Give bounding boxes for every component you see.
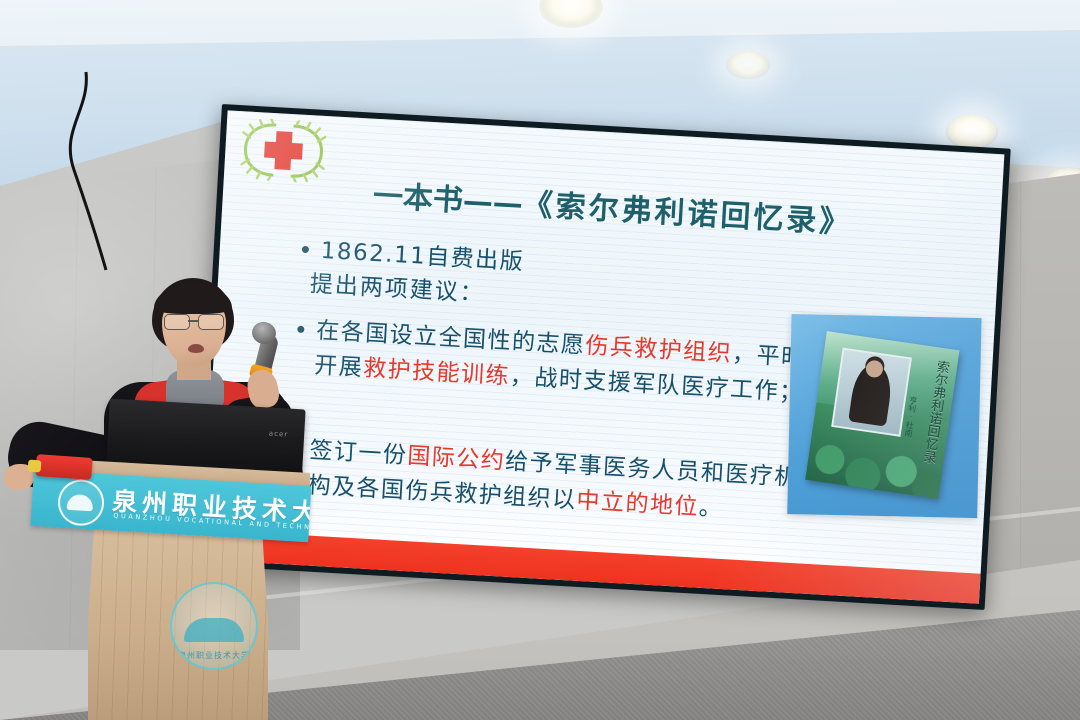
bullet-text: 签订一份国际公约给予军事医务人员和医疗机构及各国伤兵救护组织以中立的地位。 [306, 434, 810, 532]
university-seal-icon [57, 478, 106, 527]
university-emblem-icon: 泉州职业技术大学 [170, 582, 258, 670]
emblem-text: 泉州职业技术大学 [172, 650, 256, 661]
emblem-mountain [184, 618, 244, 642]
speaker-mouth [188, 344, 204, 353]
ceiling-downlight [726, 51, 770, 79]
glasses-lens-right [198, 314, 224, 330]
presenter-clicker[interactable] [35, 454, 92, 480]
glasses-icon [164, 314, 226, 329]
book-cover-portrait [831, 348, 912, 437]
microphone-cable [56, 60, 256, 290]
glasses-lens-left [164, 314, 190, 330]
book-cover-image: 索尔弗利诺回忆录 亨利·杜南 [787, 314, 981, 518]
glasses-bridge [188, 320, 198, 322]
slide-bullet-proposal-two: 签订一份国际公约给予军事医务人员和医疗机构及各国伤兵救护组织以中立的地位。 [288, 432, 811, 531]
laptop-brand-label: acer [269, 430, 289, 439]
slide-bullet-proposal-one: 在各国设立全国性的志愿伤兵救护组织，平时开展救护技能训练，战时支援军队医疗工作； [294, 313, 817, 412]
ceiling-downlight [946, 115, 998, 149]
slide-bottom-band [202, 530, 980, 604]
clicker-button[interactable] [28, 460, 42, 473]
presentation-slide[interactable]: 一本书——《索尔弗利诺回忆录》 1862.11自费出版 提出两项建议： 在各国设… [202, 110, 1004, 603]
lecture-hall-photo: 一本书——《索尔弗利诺回忆录》 1862.11自费出版 提出两项建议： 在各国设… [0, 0, 1080, 720]
bullet-dot-icon [302, 246, 309, 253]
slide-title-book: 《索尔弗利诺回忆录》 [522, 187, 853, 241]
slide-title-main: 一本书—— [372, 179, 524, 222]
book-cover: 索尔弗利诺回忆录 亨利·杜南 [805, 331, 959, 499]
bullet-text: 在各国设立全国性的志愿伤兵救护组织，平时开展救护技能训练，战时支援军队医疗工作； [313, 314, 817, 412]
laptop[interactable]: acer [106, 399, 305, 474]
slide-title: 一本书——《索尔弗利诺回忆录》 [372, 171, 993, 250]
podium: 泉州职业技术大学 泉州职业技术大学 QUANZHOU VOCATIONAL AN… [52, 466, 314, 720]
